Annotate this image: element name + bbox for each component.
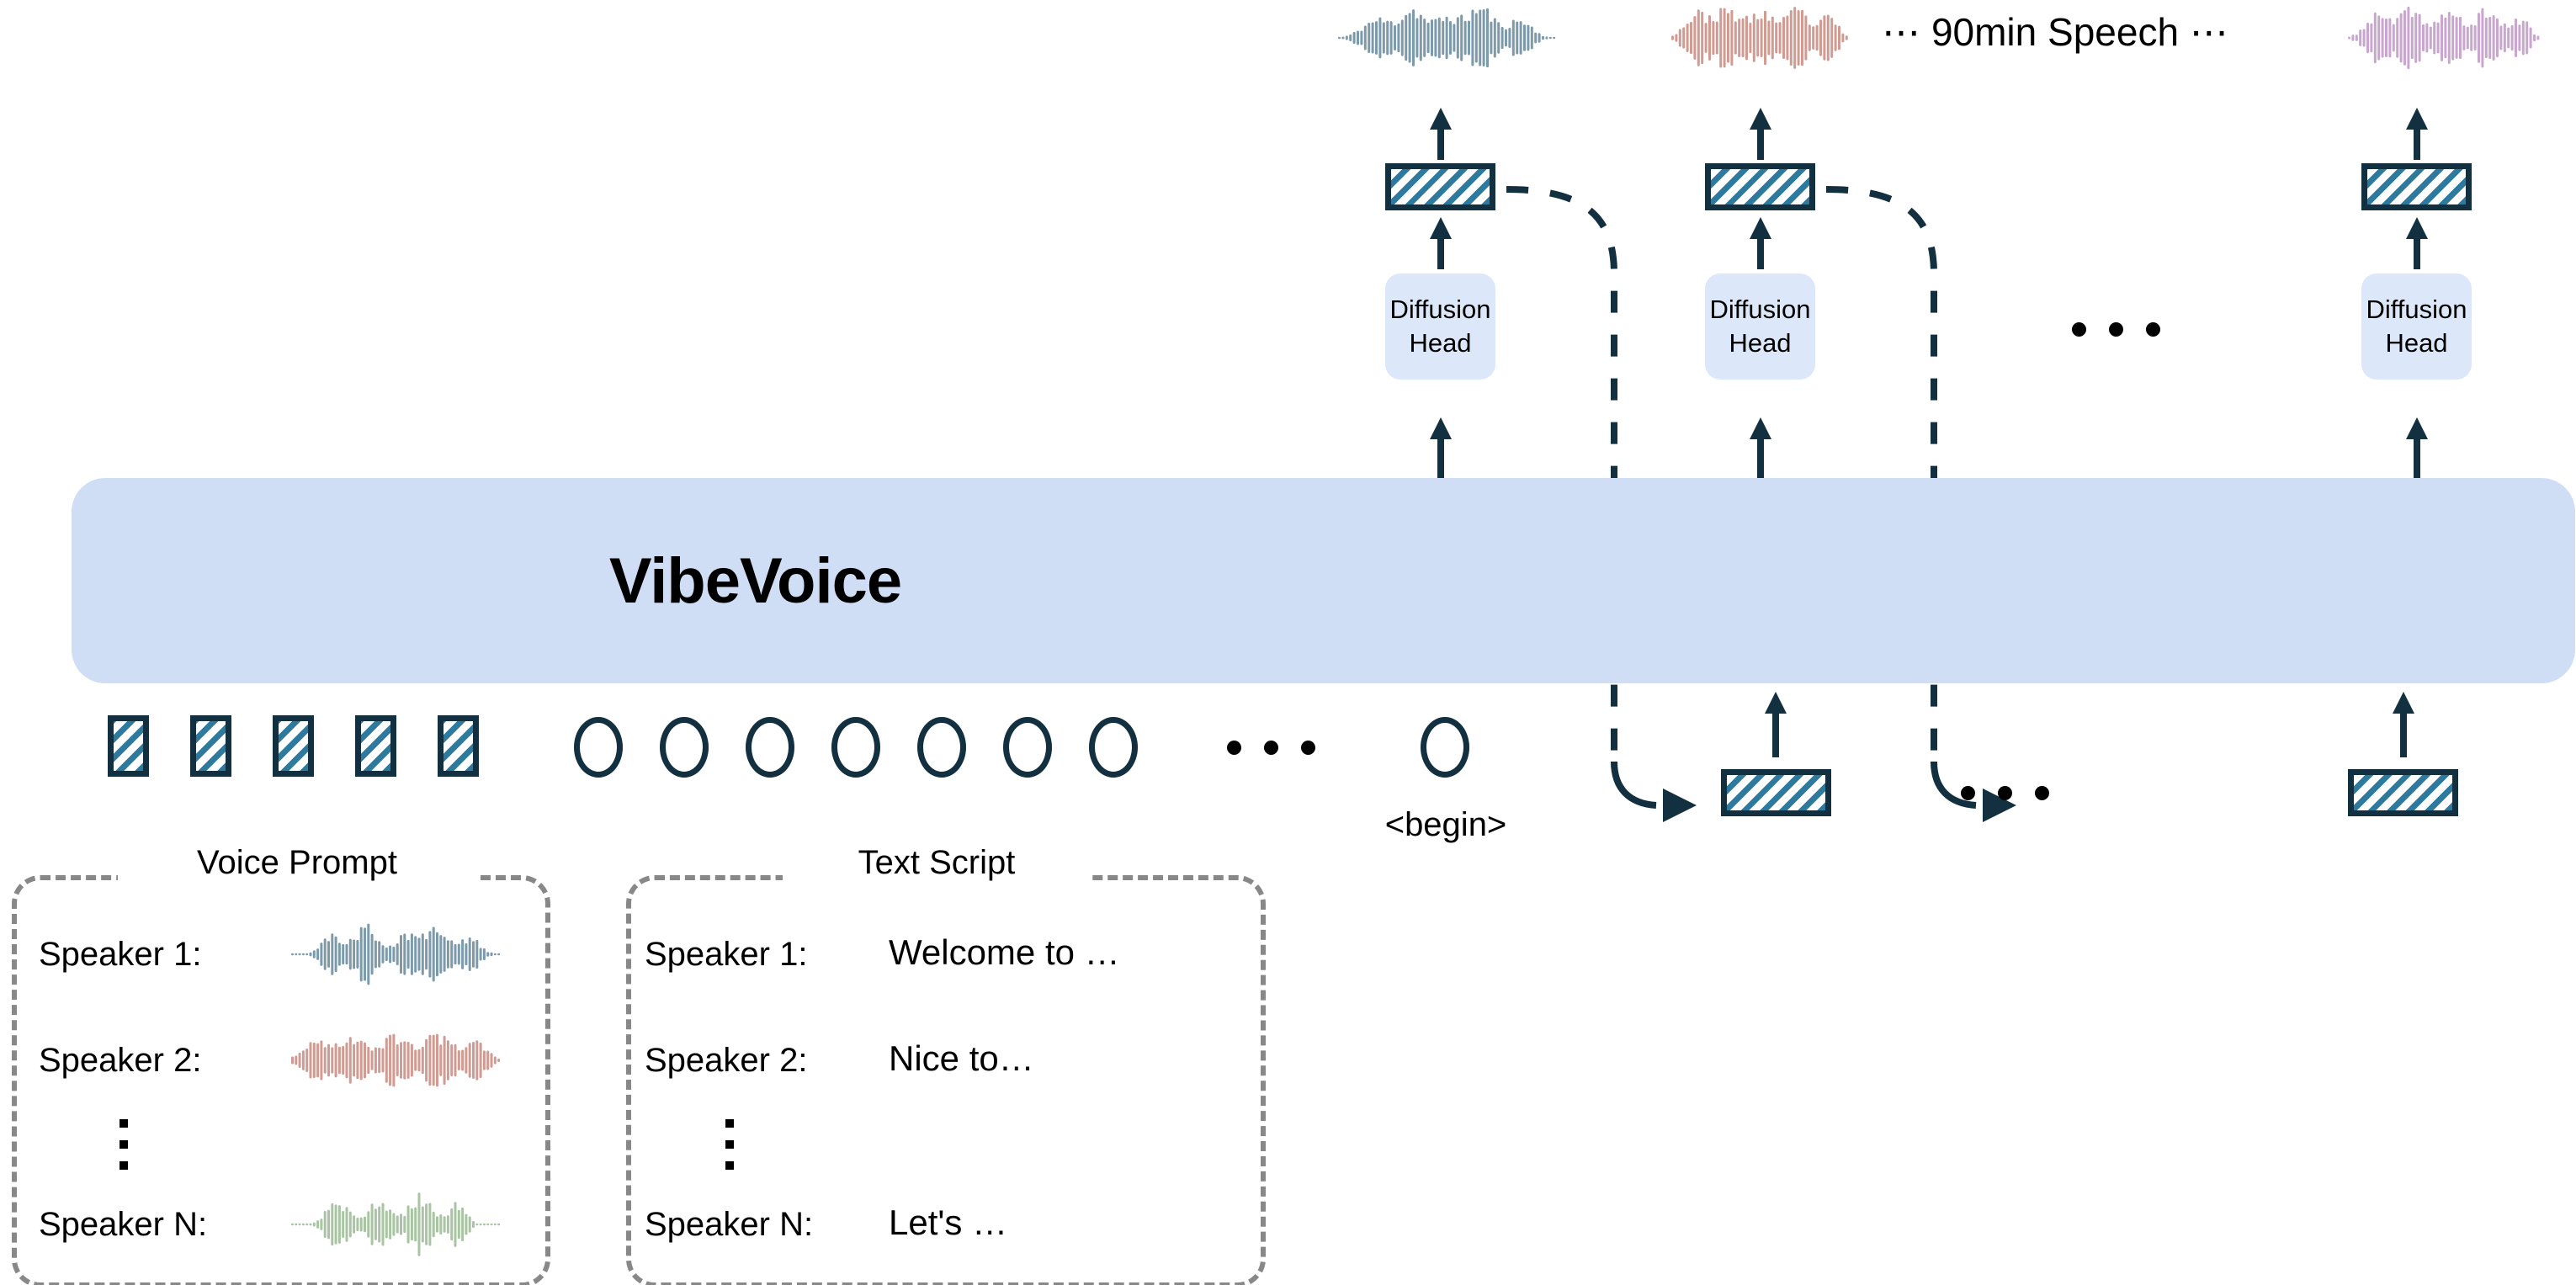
text-script-token — [831, 717, 880, 778]
arrow-up-latent-to-waveform-1 — [1424, 108, 1458, 160]
voice-prompt-token — [190, 715, 231, 777]
voice-prompt-token — [438, 715, 479, 777]
text-script-line-text: Welcome to … — [889, 932, 1120, 973]
voice-prompt-title: Voice Prompt — [118, 844, 476, 882]
diffusion-head-1[interactable]: Diffusion Head — [1385, 273, 1495, 380]
text-script-token — [574, 717, 623, 778]
arrow-up-latent-to-bar-2 — [2387, 692, 2420, 757]
arrow-up-latent-to-waveform-2 — [1744, 108, 1777, 160]
ellipsis-latent-tokens — [1961, 786, 2049, 800]
arrow-up-bar-to-head-1 — [1424, 417, 1458, 478]
text-script-token — [1003, 717, 1052, 778]
speaker-n-output-waveform — [2348, 2, 2543, 74]
voice-prompt-token — [273, 715, 314, 777]
ellipsis-input-tokens — [1227, 741, 1315, 755]
speaker-1-output-waveform — [1338, 2, 1557, 74]
vibevoice-model-bar[interactable]: VibeVoice — [72, 478, 2575, 683]
voice-prompt-speaker-label: Speaker N: — [39, 1206, 207, 1244]
voice-prompt-vertical-ellipsis — [120, 1119, 128, 1170]
text-script-title: Text Script — [783, 844, 1091, 882]
text-script-speaker-label: Speaker 2: — [645, 1042, 807, 1080]
text-script-speaker-label: Speaker N: — [645, 1206, 813, 1244]
diffusion-head-line2: Head — [2385, 327, 2447, 360]
arrow-up-latent-to-bar-1 — [1759, 692, 1793, 757]
diffusion-head-line2: Head — [1409, 327, 1471, 360]
diffusion-head-3[interactable]: Diffusion Head — [2361, 273, 2472, 380]
arrow-up-head-to-latent-1 — [1424, 217, 1458, 269]
arrow-up-bar-to-head-2 — [1744, 417, 1777, 478]
voice-prompt-token — [355, 715, 396, 777]
begin-token — [1421, 717, 1469, 778]
arrow-up-latent-to-waveform-3 — [2400, 108, 2434, 160]
text-script-line-text: Nice to… — [889, 1038, 1034, 1079]
text-script-token — [746, 717, 794, 778]
text-script-line-text: Let's … — [889, 1203, 1007, 1243]
arrow-up-head-to-latent-2 — [1744, 217, 1777, 269]
text-script-token — [1089, 717, 1138, 778]
latent-token-input-2 — [2348, 769, 2458, 816]
voice-prompt-speaker-label: Speaker 1: — [39, 936, 201, 974]
text-script-token — [660, 717, 709, 778]
latent-token-output-1 — [1385, 163, 1495, 210]
voice-prompt-waveform-speaker-1 — [291, 921, 502, 987]
begin-token-label: <begin> — [1353, 806, 1538, 844]
voice-prompt-token — [108, 715, 149, 777]
text-script-token — [917, 717, 966, 778]
text-script-speaker-label: Speaker 1: — [645, 936, 807, 974]
speech-duration-label: ⋯ 90min Speech ⋯ — [1878, 8, 2232, 56]
latent-token-output-3 — [2361, 163, 2472, 210]
arrow-up-bar-to-head-3 — [2400, 417, 2434, 478]
text-script-vertical-ellipsis — [725, 1119, 734, 1170]
speaker-2-output-waveform — [1671, 2, 1850, 74]
latent-token-input-1 — [1721, 769, 1831, 816]
voice-prompt-waveform-speaker-2 — [291, 1027, 502, 1093]
architecture-diagram: ⋯ 90min Speech ⋯ — [0, 0, 2576, 1285]
voice-prompt-waveform-speaker-n — [291, 1192, 502, 1257]
voice-prompt-speaker-label: Speaker 2: — [39, 1042, 201, 1080]
diffusion-head-line1: Diffusion — [2366, 293, 2467, 327]
arrow-up-head-to-latent-3 — [2400, 217, 2434, 269]
vibevoice-title: VibeVoice — [609, 544, 901, 618]
diffusion-head-line1: Diffusion — [1389, 293, 1490, 327]
